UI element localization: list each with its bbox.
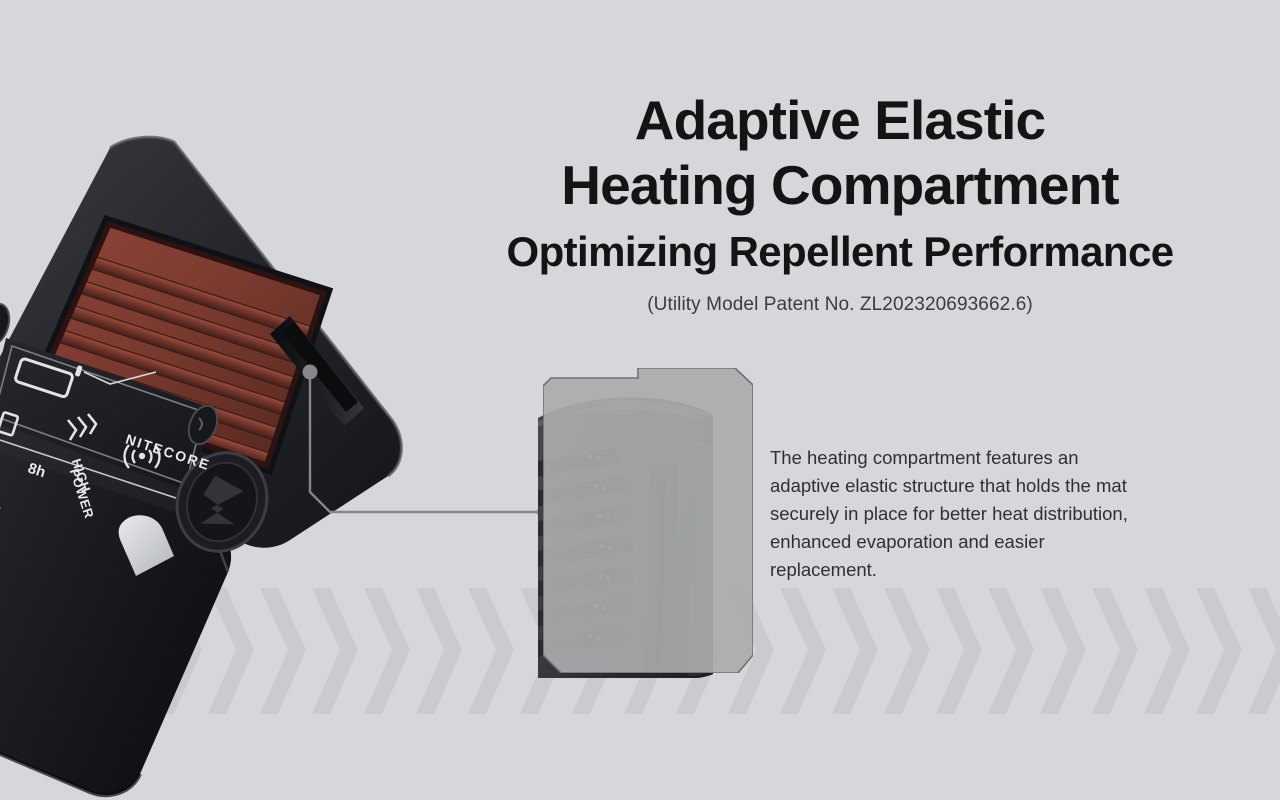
leader-origin-dot [303, 365, 318, 380]
headline-block: Adaptive Elastic Heating Compartment Opt… [420, 88, 1260, 316]
headline-line-1: Adaptive Elastic [420, 88, 1260, 153]
product-feature-banner: NITECORE 8h HIGH POWER [0, 0, 1280, 800]
feature-description-paragraph: The heating compartment features an adap… [770, 444, 1150, 585]
zoom-callout-panel [543, 368, 753, 673]
callout-panel-overlay [543, 368, 753, 673]
headline-subtitle: Optimizing Repellent Performance [420, 224, 1260, 281]
headline-line-2: Heating Compartment [420, 153, 1260, 218]
patent-number-text: (Utility Model Patent No. ZL202320693662… [420, 294, 1260, 316]
